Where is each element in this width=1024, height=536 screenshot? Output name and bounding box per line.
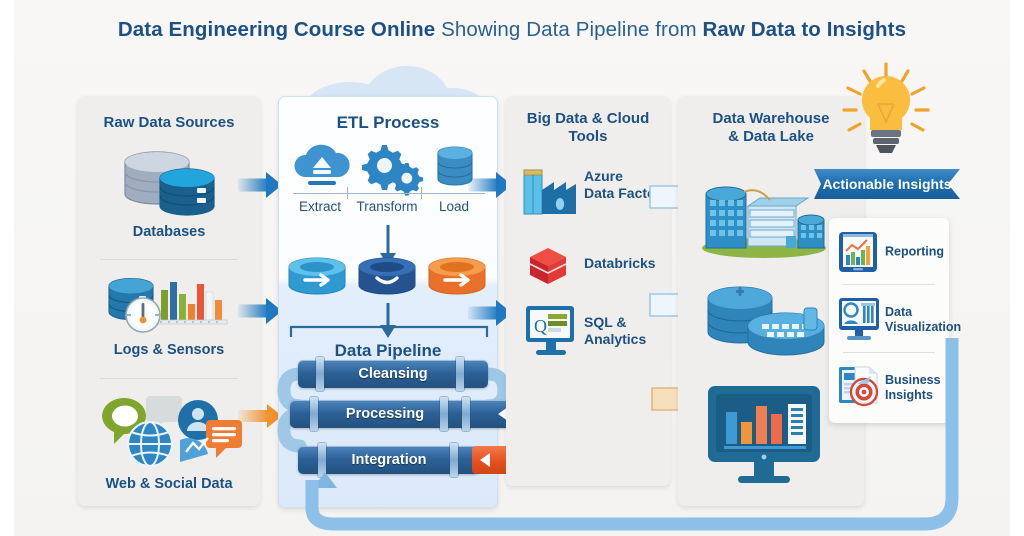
data-warehouse-building-icon[interactable] [696,168,836,260]
source-label-databases: Databases [78,224,260,240]
insight-label-dv-line2: Visualization [885,320,961,334]
etl-title: ETL Process [279,113,497,134]
tool-label-sql-line2: Analytics [584,331,646,347]
business-insights-target-icon [837,364,881,410]
tool-label-sql: SQL & Analytics [584,314,646,347]
page-title: Data Engineering Course Online Showing D… [0,18,1024,42]
raw-divider-2 [100,378,238,379]
cloud-upload-icon[interactable] [291,141,353,191]
etl-bracket [291,323,487,339]
sql-analytics-monitor-icon: Q [522,302,580,360]
database-stack-icon [109,148,229,220]
actionable-insights-banner[interactable]: Actionable Insights [814,169,960,199]
title-bold-2: Raw Data to Insights [702,18,906,41]
pipeline-rings-row [285,255,489,307]
insight-label-bi-line2: Insights [885,388,933,402]
tool-label-azure-line1: Azure [584,168,623,184]
web-social-bubbles-icon [94,390,244,472]
tool-label-databricks: Databricks [584,255,656,272]
logs-sensors-chart-icon [99,274,239,338]
raw-sources-title: Raw Data Sources [78,114,260,132]
bigdata-title-line1: Big Data & Cloud [527,110,650,127]
warehouse-title: Data Warehouse & Data Lake [678,110,864,147]
left-margin [0,0,14,536]
pipeline-label-cleansing: Cleansing [298,366,488,382]
arrow-databases-to-etl [238,172,282,198]
insight-label-bi-line1: Business [885,373,941,387]
source-item-web-social[interactable]: Web & Social Data [78,390,260,492]
source-item-logs-sensors[interactable]: Logs & Sensors [78,274,260,358]
reporting-tablet-icon [837,230,879,274]
pipeline-stage-cleansing[interactable]: Cleansing [298,360,488,388]
etl-icons-row [287,141,487,193]
title-normal: Showing Data Pipeline from [435,18,702,41]
etl-label-extract: Extract [289,199,351,214]
insight-card-business-insights[interactable]: Business Insights [837,360,941,416]
lightbulb-icon [838,62,934,166]
pipeline-label-processing: Processing [290,406,480,422]
tool-label-sql-line1: SQL & [584,314,627,330]
card-divider-2 [843,352,935,353]
source-label-logs-sensors: Logs & Sensors [78,342,260,358]
title-bold-1: Data Engineering Course Online [118,18,435,41]
databricks-cube-icon [526,244,570,288]
insight-card-reporting[interactable]: Reporting [837,224,941,280]
insight-label-data-visualization: Data Visualization [885,305,961,335]
etl-rule [293,193,485,194]
pipeline-stage-processing[interactable]: Processing [290,400,540,428]
card-divider-1 [843,284,935,285]
azure-data-factory-icon [520,164,578,218]
feedback-loop-arrow [280,458,980,536]
warehouse-title-line2: & Data Lake [728,128,814,145]
insight-card-data-visualization[interactable]: Data Visualization [837,292,941,348]
raw-divider-1 [100,259,238,260]
source-item-databases[interactable]: Databases [78,148,260,240]
insights-card-panel: Reporting Data Vi [829,218,949,423]
insight-label-dv-line1: Data [885,305,912,319]
svg-text:Q: Q [534,316,547,336]
right-margin [1010,0,1024,536]
etl-label-load: Load [425,199,483,214]
data-lake-disks-icon[interactable] [700,284,832,364]
panel-big-data-cloud-tools: Big Data & Cloud Tools Azure Data Factor… [506,96,670,486]
infographic-canvas: Data Engineering Course Online Showing D… [0,0,1024,536]
arrow-logs-to-etl [238,298,282,324]
source-label-web-social: Web & Social Data [78,476,260,492]
insight-label-reporting: Reporting [885,245,944,260]
warehouse-title-line1: Data Warehouse [713,110,830,127]
etl-label-transform: Transform [351,199,423,214]
gears-icon[interactable] [359,141,421,191]
insight-label-business-insights: Business Insights [885,373,941,403]
panel-raw-data-sources: Raw Data Sources [78,96,260,506]
data-visualization-monitor-icon [837,296,881,342]
bigdata-title-line2: Tools [569,128,608,145]
bigdata-title: Big Data & Cloud Tools [506,110,670,147]
